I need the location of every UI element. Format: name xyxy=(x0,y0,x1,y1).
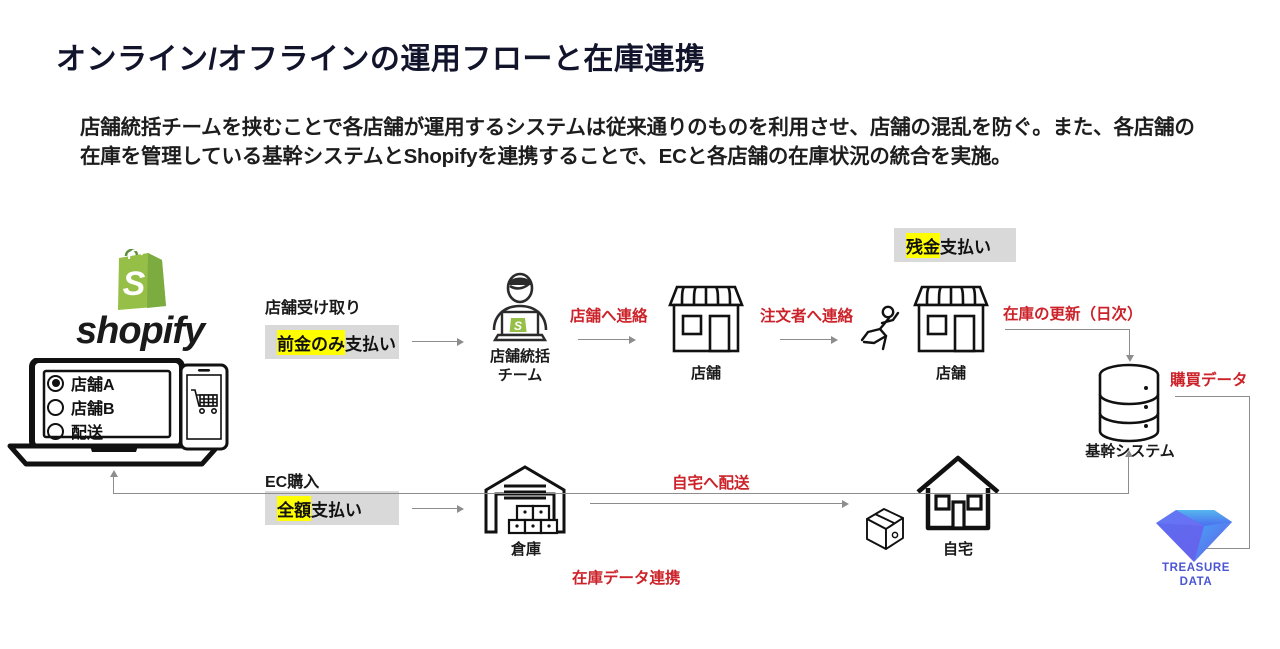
arrow-warehouse-to-home xyxy=(590,503,843,504)
connector-core-to-td-h-top xyxy=(1175,396,1250,397)
radio-label-store-a: 店舗A xyxy=(71,371,115,395)
treasure-data-line-1: TREASURE xyxy=(1162,562,1230,574)
radio-option-delivery[interactable]: 配送 xyxy=(47,419,169,443)
arrow-team-to-store xyxy=(578,339,630,340)
arrowhead-icon xyxy=(831,336,838,344)
treasure-data-wordmark: TREASURE DATA xyxy=(1148,561,1244,590)
connector-core-to-td-v xyxy=(1249,396,1250,548)
connector-store-to-core-v xyxy=(1129,329,1130,356)
arrowhead-icon xyxy=(1125,450,1133,457)
arrowhead-icon xyxy=(110,470,118,477)
payment-suffix-full: 支払い xyxy=(311,496,362,521)
payment-box-full: 全額支払い xyxy=(265,491,399,525)
page-description: 店舗統括チームを挟むことで各店舗が運用するシステムは従来通りのものを利用させ、店… xyxy=(80,113,1202,171)
payment-highlight-full: 全額 xyxy=(277,496,311,521)
slide-canvas: オンライン/オフラインの運用フローと在庫連携 店舗統括チームを挟むことで各店舗が… xyxy=(0,0,1280,649)
node-label-home: 自宅 xyxy=(910,538,1006,559)
radio-unselected-icon xyxy=(47,423,64,440)
connector-inventory-sync-v xyxy=(1128,457,1129,494)
arrowhead-icon xyxy=(457,505,464,513)
node-label-team-line2: チーム xyxy=(470,364,570,385)
arrow-ec-to-warehouse xyxy=(412,508,458,509)
node-label-store-1: 店舗 xyxy=(656,362,756,383)
payment-box-prepaid: 前金のみ支払い xyxy=(265,325,399,359)
node-label-team-line1: 店舗統括 xyxy=(470,345,570,366)
arrow-label-home-delivery: 自宅へ配送 xyxy=(672,471,750,493)
payment-box-balance: 残金支払い xyxy=(894,228,1016,262)
database-icon xyxy=(1093,362,1165,444)
running-person-icon xyxy=(858,305,906,357)
radio-label-store-b: 店舗B xyxy=(71,395,115,419)
node-label-warehouse: 倉庫 xyxy=(478,538,574,559)
arrow-label-inventory-update: 在庫の更新（日次） xyxy=(1003,302,1143,324)
smartphone-icon xyxy=(178,362,230,452)
home-icon xyxy=(912,452,1004,536)
store-option-list[interactable]: 店舗A 店舗B 配送 xyxy=(47,371,169,443)
radio-option-store-b[interactable]: 店舗B xyxy=(47,395,169,419)
shopify-bag-icon: S xyxy=(96,249,182,311)
payment-suffix-balance: 支払い xyxy=(940,233,991,258)
page-title: オンライン/オフラインの運用フローと在庫連携 xyxy=(56,34,705,78)
channel-label-pickup: 店舗受け取り xyxy=(265,294,361,318)
warehouse-icon xyxy=(482,464,568,536)
radio-label-delivery: 配送 xyxy=(71,419,103,443)
arrow-label-inventory-sync: 在庫データ連携 xyxy=(572,566,681,588)
payment-highlight-prepaid: 前金のみ xyxy=(277,330,345,355)
svg-text:S: S xyxy=(514,319,522,333)
radio-option-store-a[interactable]: 店舗A xyxy=(47,371,169,395)
channel-label-ec: EC購入 xyxy=(265,468,319,492)
arrowhead-icon xyxy=(842,500,849,508)
node-label-store-2: 店舗 xyxy=(901,362,1001,383)
arrowhead-icon xyxy=(1126,355,1134,362)
treasure-data-line-2: DATA xyxy=(1180,576,1213,588)
svg-text:S: S xyxy=(123,265,146,303)
arrow-label-contact-customer: 注文者へ連絡 xyxy=(760,304,853,326)
arrowhead-icon xyxy=(457,338,464,346)
arrow-pickup-to-team xyxy=(412,341,458,342)
arrow-label-purchase-data: 購買データ xyxy=(1170,368,1248,390)
connector-store-to-core-h xyxy=(1005,329,1130,330)
arrowhead-icon xyxy=(629,336,636,344)
store-management-team-icon: S xyxy=(480,268,560,342)
radio-unselected-icon xyxy=(47,399,64,416)
storefront-icon xyxy=(665,283,747,355)
connector-inventory-sync-h xyxy=(113,493,1129,494)
storefront-icon xyxy=(910,283,992,355)
radio-selected-icon xyxy=(47,375,64,392)
parcel-box-icon xyxy=(862,505,908,553)
treasure-data-diamond-icon xyxy=(1152,504,1236,566)
connector-inventory-sync-v-left xyxy=(113,477,114,494)
arrow-label-contact-store: 店舗へ連絡 xyxy=(570,304,648,326)
payment-highlight-balance: 残金 xyxy=(906,233,940,258)
shopify-wordmark: shopify xyxy=(76,310,204,353)
payment-suffix-prepaid: 支払い xyxy=(345,330,396,355)
arrow-store-to-customer xyxy=(780,339,832,340)
